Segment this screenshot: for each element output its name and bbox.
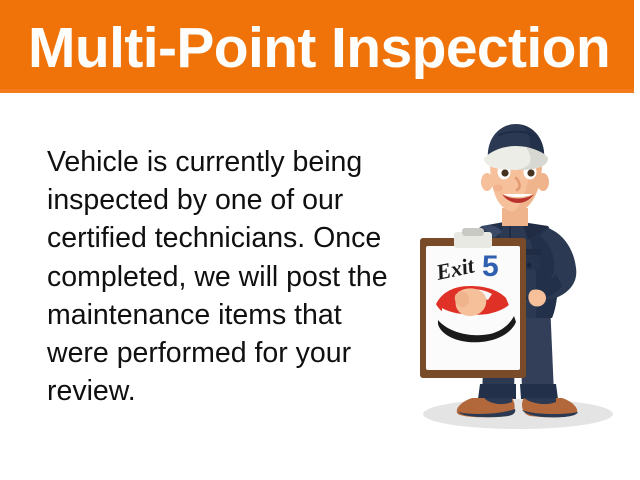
hand-right-icon bbox=[528, 289, 546, 306]
clipboard-brand-number: 5 bbox=[482, 250, 499, 283]
mechanic-illustration: Exit 5 bbox=[398, 122, 638, 442]
cuff-left bbox=[478, 384, 516, 399]
shoe-right-icon bbox=[522, 398, 578, 417]
pupil-left-icon bbox=[501, 169, 508, 176]
slide-canvas: Multi-Point Inspection Vehicle is curren… bbox=[0, 0, 640, 480]
page-title: Multi-Point Inspection bbox=[28, 10, 628, 86]
cuff-right bbox=[520, 384, 558, 399]
pupil-right-icon bbox=[527, 169, 534, 176]
body-paragraph: Vehicle is currently being inspected by … bbox=[47, 143, 399, 410]
pocket-button-icon bbox=[527, 263, 532, 268]
cheek-icon bbox=[493, 185, 503, 192]
ground-shadow-icon bbox=[423, 399, 613, 429]
shoe-left-icon bbox=[457, 398, 515, 417]
header-banner-underline bbox=[0, 89, 634, 93]
head-group bbox=[481, 124, 549, 212]
